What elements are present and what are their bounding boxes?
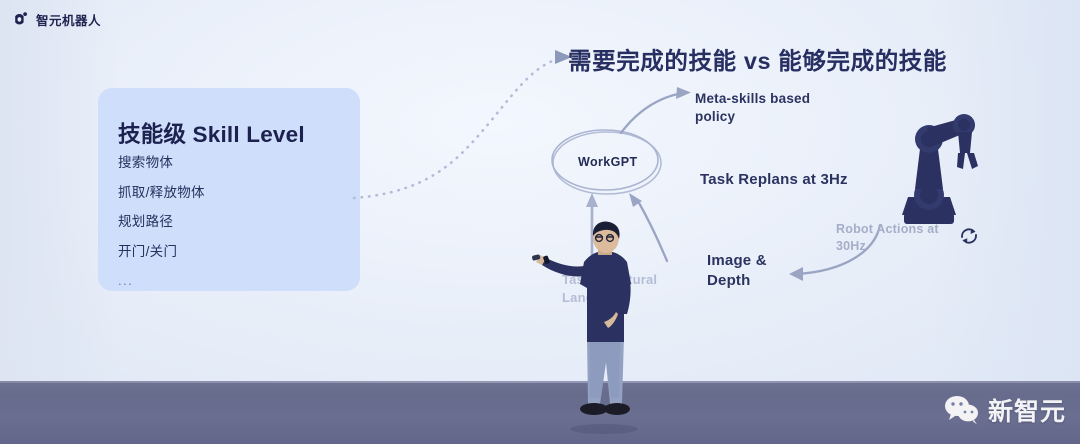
skill-card-list: 搜索物体 抓取/释放物体 规划路径 开门/关门 ...	[118, 156, 205, 303]
watermark: 新智元	[944, 392, 1066, 428]
diagram-node-meta-policy: Meta-skills based policy	[695, 90, 825, 126]
stage-scene: 智元机器人 技能级 Skill Level 搜索物体 抓取/释放物体 规划路径 …	[0, 0, 1080, 444]
zhiyuan-logo-icon	[12, 11, 29, 28]
presenter-figure	[532, 222, 664, 434]
list-item-ellipsis: ...	[118, 274, 205, 287]
skill-level-card: 技能级 Skill Level 搜索物体 抓取/释放物体 规划路径 开门/关门 …	[98, 88, 360, 291]
list-item: 规划路径	[118, 215, 205, 229]
refresh-loop-icon	[958, 225, 980, 247]
diagram-node-task-replans: Task Replans at 3Hz	[700, 171, 848, 188]
list-item: 抓取/释放物体	[118, 186, 205, 200]
brand-logo: 智元机器人	[12, 10, 101, 29]
robot-arm-icon	[888, 103, 992, 231]
skill-card-title: 技能级 Skill Level	[118, 117, 305, 149]
diagram-node-image-depth: Image & Depth	[707, 251, 797, 292]
diagram-node-workgpt: WorkGPT	[578, 155, 638, 169]
brand-label: 智元机器人	[36, 10, 101, 29]
page-title: 需要完成的技能 vs 能够完成的技能	[568, 42, 947, 76]
list-item: 搜索物体	[118, 156, 205, 170]
wechat-icon	[944, 395, 980, 425]
dotted-connector-arrow	[340, 40, 580, 210]
list-item: 开门/关门	[118, 245, 205, 259]
watermark-label: 新智元	[988, 392, 1066, 428]
